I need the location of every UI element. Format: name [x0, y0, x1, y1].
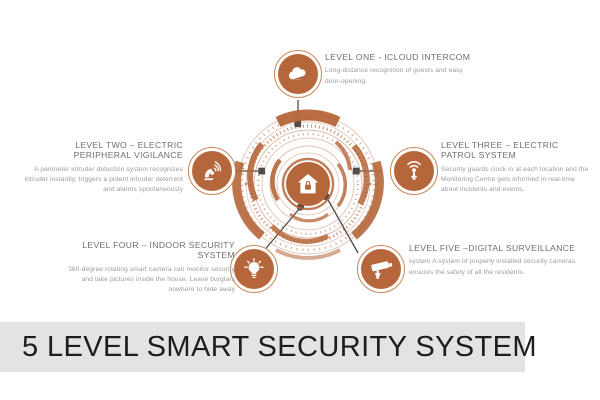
- page-title: 5 LEVEL SMART SECURITY SYSTEM: [22, 331, 537, 364]
- level-five-body: system A system of properly installed se…: [409, 257, 581, 277]
- level-four-heading: LEVEL FOUR – INDOOR SECURITY SYSTEM: [55, 240, 235, 261]
- level-three-body: Security guards clock in at each locatio…: [441, 165, 593, 196]
- level-three-heading: LEVEL THREE – ELECTRIC PATROL SYSTEM: [441, 140, 593, 161]
- text-block-level-three: LEVEL THREE – ELECTRIC PATROL SYSTEM Sec…: [441, 140, 593, 196]
- cloud-icon: [278, 54, 318, 94]
- satellite-dish-icon: [192, 151, 232, 191]
- lightbulb-icon: [234, 249, 274, 289]
- infographic-canvas: LEVEL ONE - ICLOUD INTERCOM Long-distanc…: [0, 0, 600, 400]
- text-block-level-four: LEVEL FOUR – INDOOR SECURITY SYSTEM 360-…: [55, 240, 235, 296]
- text-block-level-two: LEVEL TWO – ELECTRIC PERIPHERAL VIGILANC…: [18, 140, 183, 196]
- level-two-body: A perimeter intruder detection system re…: [18, 165, 183, 196]
- broadcast-antenna-icon: [394, 151, 434, 191]
- node-level-four[interactable]: [230, 245, 278, 293]
- title-banner: 5 LEVEL SMART SECURITY SYSTEM: [0, 322, 525, 372]
- text-block-level-five: LEVEL FIVE –DIGITAL SURVEILLANCE system …: [409, 243, 581, 278]
- node-level-two[interactable]: [188, 147, 236, 195]
- node-level-five[interactable]: [357, 245, 405, 293]
- node-level-three[interactable]: [390, 147, 438, 195]
- cctv-camera-icon: [361, 249, 401, 289]
- node-level-one[interactable]: [274, 50, 322, 98]
- level-one-heading: LEVEL ONE - ICLOUD INTERCOM: [325, 52, 475, 62]
- central-hub: [232, 108, 384, 260]
- level-two-heading: LEVEL TWO – ELECTRIC PERIPHERAL VIGILANC…: [18, 140, 183, 161]
- text-block-level-one: LEVEL ONE - ICLOUD INTERCOM Long-distanc…: [325, 52, 475, 87]
- level-five-heading: LEVEL FIVE –DIGITAL SURVEILLANCE: [409, 243, 581, 253]
- level-four-body: 360-degree rotating smart camera can mon…: [55, 265, 235, 296]
- level-one-body: Long-distance recognition of guests and …: [325, 66, 475, 86]
- house-lock-icon: [286, 162, 330, 206]
